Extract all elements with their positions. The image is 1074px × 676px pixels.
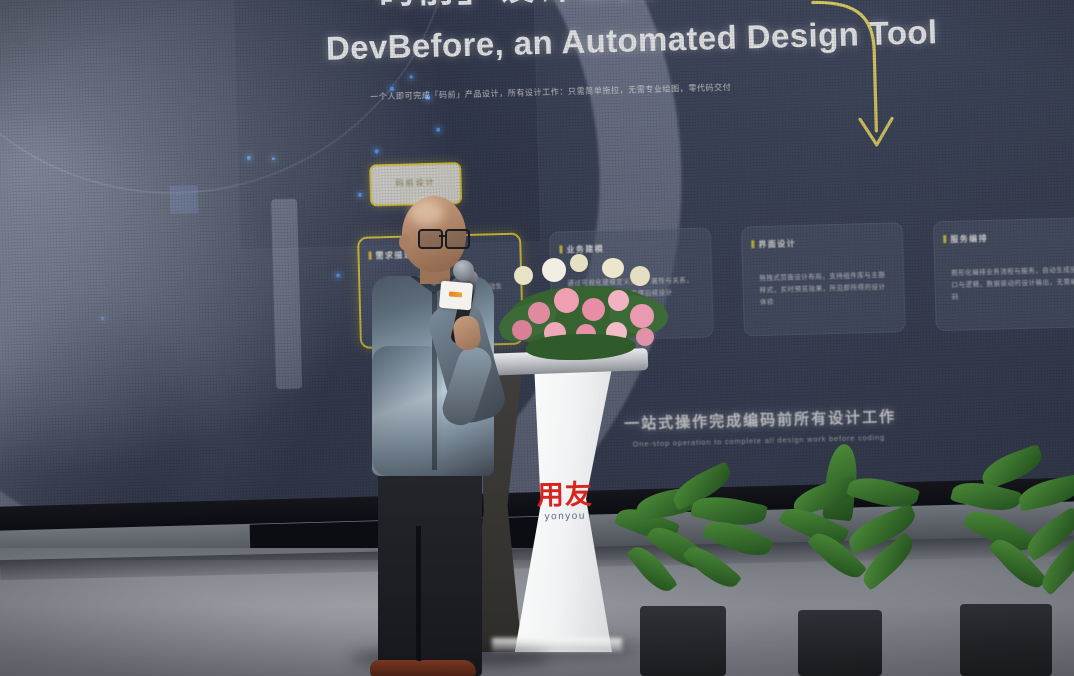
slide-card: 界面设计 拖拽式页面设计布局，支持组件库与主题样式，实时预览效果，所见即所得的设… <box>741 222 906 336</box>
speaker-leg-split <box>416 526 421 674</box>
potted-plants <box>630 440 1074 676</box>
conference-photo: 「码前」设计工具 DevBefore, an Automated Design … <box>0 0 1074 676</box>
speaker-head-highlight <box>410 200 444 226</box>
slide-card-title: 界面设计 <box>758 238 796 250</box>
slide-card-body: 拖拽式页面设计布局，支持组件库与主题样式，实时预览效果，所见即所得的设计体验 <box>759 270 892 310</box>
plant-pot <box>798 610 882 676</box>
screen-small-square <box>170 185 199 214</box>
plant-pot <box>640 606 726 676</box>
slide-card-title: 服务编排 <box>950 233 988 245</box>
blue-dot <box>247 156 251 160</box>
slide-footer-cn: 一站式操作完成编码前所有设计工作 <box>624 405 896 433</box>
speaker-shoe-right <box>416 660 476 676</box>
speaker <box>366 196 516 676</box>
plant-pot <box>960 604 1052 676</box>
microphone-flag <box>439 281 473 311</box>
blue-dot <box>375 149 379 153</box>
yonyou-logo: 用友 yonyou <box>528 481 603 522</box>
logo-text-cn: 用友 <box>528 481 602 509</box>
flower-bouquet <box>498 252 668 362</box>
slide-card-body: 图形化编排业务流程与服务，自动生成接口与逻辑，数据驱动的设计输出，无需编码 <box>951 264 1074 304</box>
slide-card: 服务编排 图形化编排业务流程与服务，自动生成接口与逻辑，数据驱动的设计输出，无需… <box>933 217 1074 331</box>
eyeglasses-icon <box>418 229 468 246</box>
speaker-trousers <box>378 464 482 676</box>
blue-dot <box>272 157 275 160</box>
logo-text-en: yonyou <box>528 510 602 522</box>
slide-badge-label: 码前设计 <box>371 176 459 189</box>
blue-dot <box>436 128 440 132</box>
blue-dot <box>410 75 413 78</box>
screen-tall-bar <box>271 199 302 390</box>
blue-dot <box>336 273 340 277</box>
speaker-ear <box>399 234 410 250</box>
curved-down-arrow-icon <box>811 0 926 165</box>
